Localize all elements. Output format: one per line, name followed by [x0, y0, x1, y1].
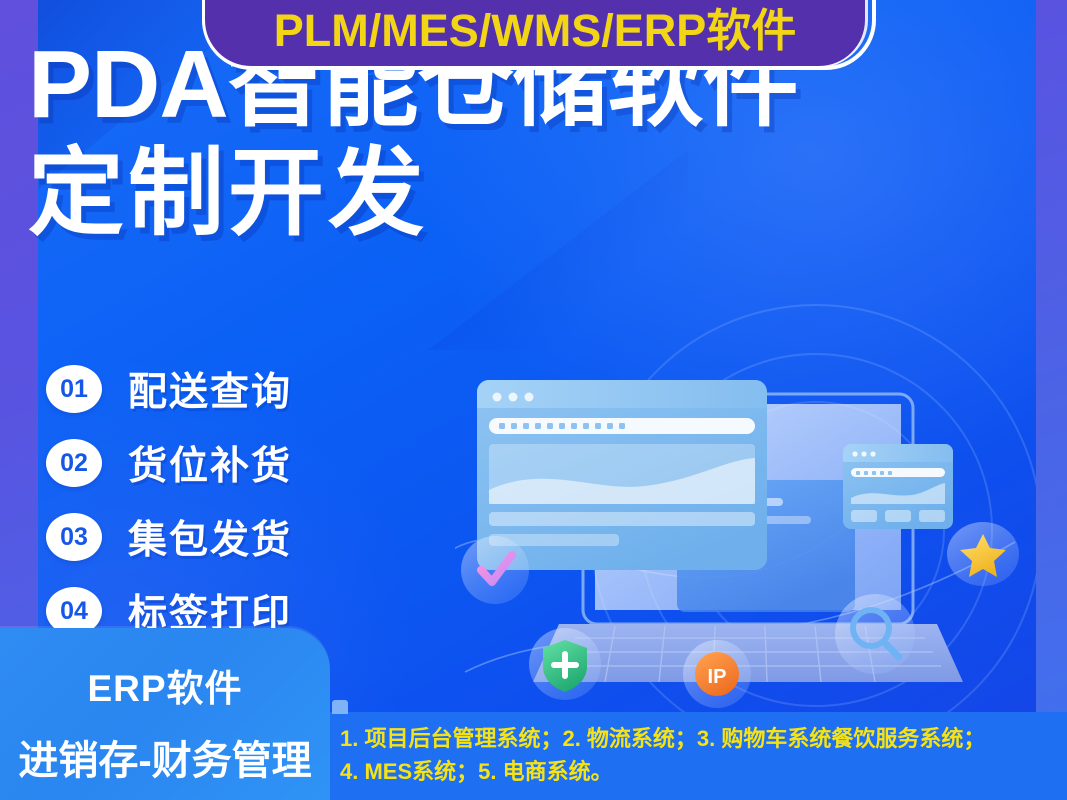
ip-icon: IP [683, 640, 751, 708]
feature-list: 01 配送查询 02 货位补货 03 集包发货 04 标签打印 [46, 352, 292, 648]
svg-text:IP: IP [708, 666, 727, 688]
ribbon-banner: PLM/MES/WMS/ERP软件 [205, 0, 865, 66]
feature-label: 货位补货 [128, 435, 292, 491]
feature-label: 配送查询 [128, 361, 292, 417]
feature-item: 01 配送查询 [46, 352, 292, 426]
bottom-band-line-2: 4. MES系统；5. 电商系统。 [340, 755, 1060, 788]
laptop-illustration: IP [455, 352, 1035, 712]
bottom-band-line-1: 1. 项目后台管理系统；2. 物流系统；3. 购物车系统餐饮服务系统； [340, 722, 1060, 755]
browser-window-large [477, 380, 767, 570]
feature-number-badge: 02 [46, 439, 102, 487]
feature-label: 集包发货 [128, 509, 292, 565]
feature-item: 03 集包发货 [46, 500, 292, 574]
ribbon-text: PLM/MES/WMS/ERP软件 [274, 8, 797, 53]
erp-panel-subtitle: 进销存-财务管理 [0, 728, 330, 786]
promotional-poster: PDA智能仓储软件 定制开发 PLM/MES/WMS/ERP软件 01 配送查询… [0, 0, 1067, 800]
star-icon [947, 522, 1019, 586]
feature-number-badge: 01 [46, 365, 102, 413]
decorative-facet-mid [428, 150, 688, 350]
shield-plus-icon [529, 628, 601, 700]
erp-panel-title: ERP软件 [0, 658, 330, 712]
feature-number-badge: 03 [46, 513, 102, 561]
erp-panel: ERP软件 进销存-财务管理 [0, 628, 330, 800]
band-connector-nub [332, 700, 348, 714]
check-icon [461, 536, 529, 604]
bottom-band-text: 1. 项目后台管理系统；2. 物流系统；3. 购物车系统餐饮服务系统； 4. M… [340, 722, 1060, 788]
browser-window-small [843, 444, 953, 529]
search-icon [835, 594, 915, 674]
feature-item: 02 货位补货 [46, 426, 292, 500]
